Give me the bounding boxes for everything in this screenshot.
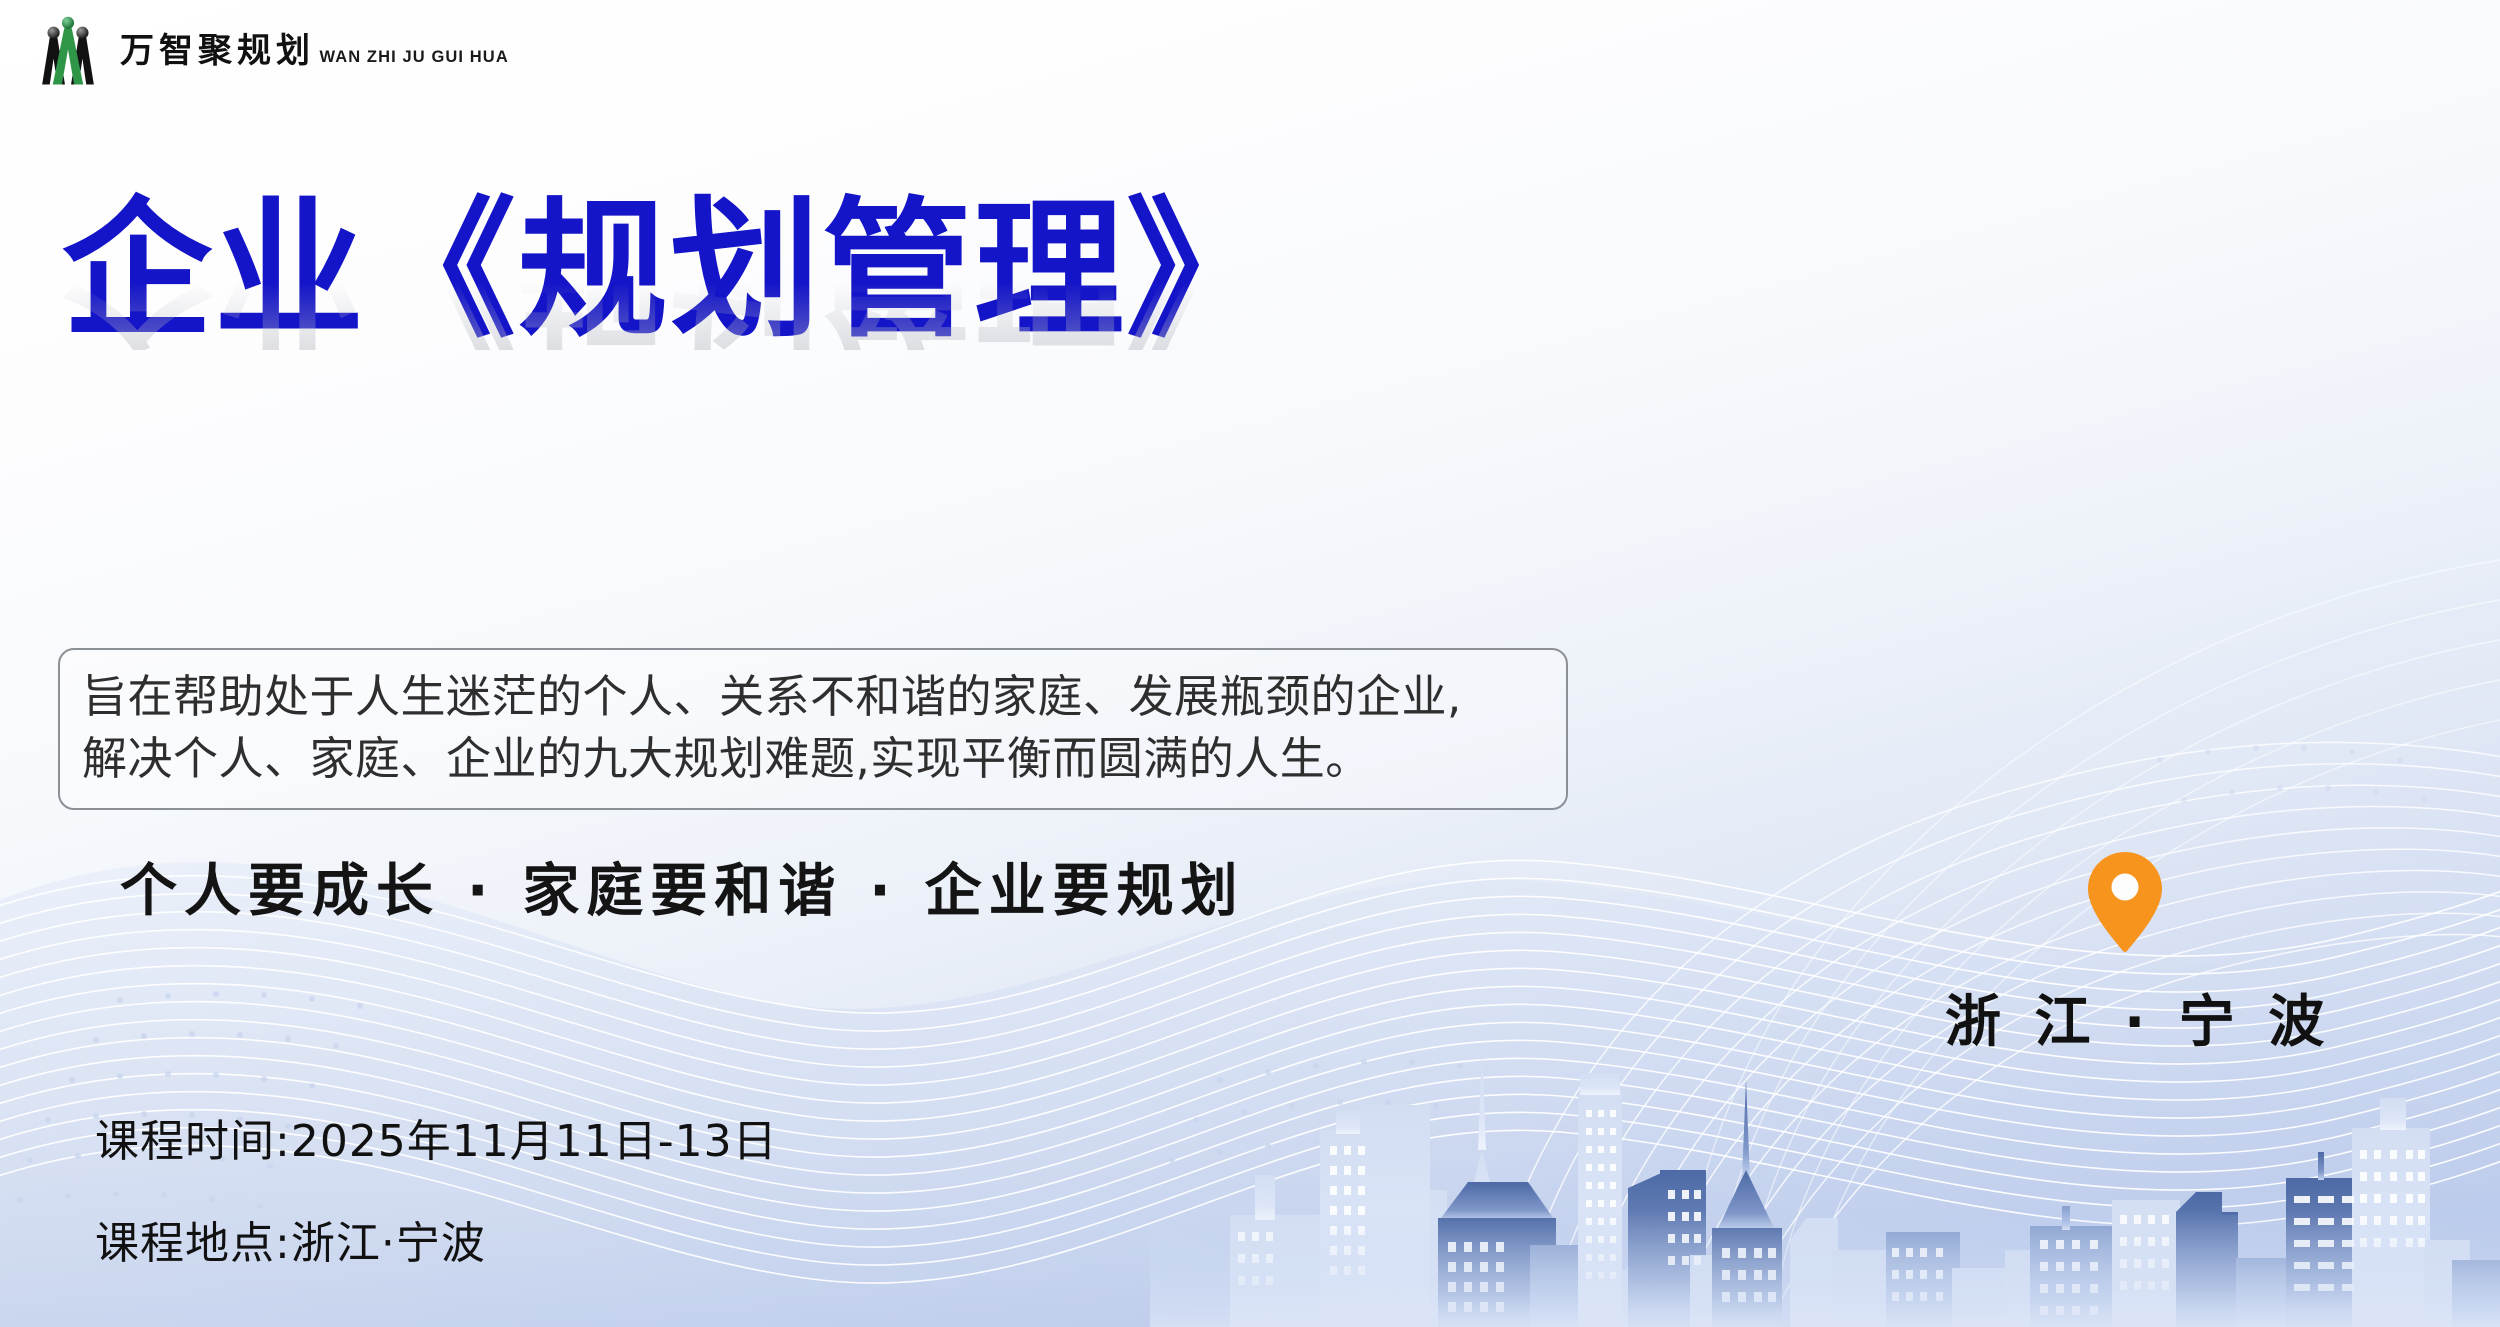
three-people-logo-icon: [30, 14, 106, 88]
hero-title-group: 企业《规划管理》 企业《规划管理》: [62, 196, 1278, 430]
description-box: 旨在帮助处于人生迷茫的个人、关系不和谐的家庭、发展瓶颈的企业, 解决个人、家庭、…: [58, 648, 1568, 810]
poster-canvas: 万智聚规划 WAN ZHI JU GUI HUA 企业《规划管理》 企业《规划管…: [0, 0, 2500, 1327]
description-line-1: 旨在帮助处于人生迷茫的个人、关系不和谐的家庭、发展瓶颈的企业,: [82, 666, 1544, 728]
schedule-block: 课程时间:2025年11月11日-13日 课程地点:浙江·宁波: [95, 1105, 778, 1271]
location-label: 浙 江 · 宁 波: [1945, 977, 2305, 1058]
course-time-label: 课程时间:: [95, 1116, 291, 1167]
map-pin-icon: [1945, 850, 2305, 959]
course-place-row: 课程地点:浙江·宁波: [95, 1207, 778, 1271]
brand-name-pinyin: WAN ZHI JU GUI HUA: [319, 48, 508, 66]
brand-name-group: 万智聚规划 WAN ZHI JU GUI HUA: [120, 33, 509, 69]
course-time-value: 2025年11月11日-13日: [291, 1116, 778, 1167]
location-badge: 浙 江 · 宁 波: [1945, 850, 2305, 1058]
brand-logo[interactable]: 万智聚规划 WAN ZHI JU GUI HUA: [30, 14, 509, 88]
course-place-label: 课程地点:: [95, 1218, 291, 1269]
course-place-value: 浙江·宁波: [291, 1218, 486, 1269]
page-title-reflection: 企业《规划管理》: [62, 270, 1278, 350]
tagline: 个人要成长 · 家庭要和谐 · 企业要规划: [120, 845, 1245, 927]
brand-name-cn: 万智聚规划: [120, 33, 315, 70]
course-time-row: 课程时间:2025年11月11日-13日: [95, 1105, 778, 1169]
description-line-2: 解决个人、家庭、企业的九大规划难题,实现平衡而圆满的人生。: [82, 728, 1544, 790]
